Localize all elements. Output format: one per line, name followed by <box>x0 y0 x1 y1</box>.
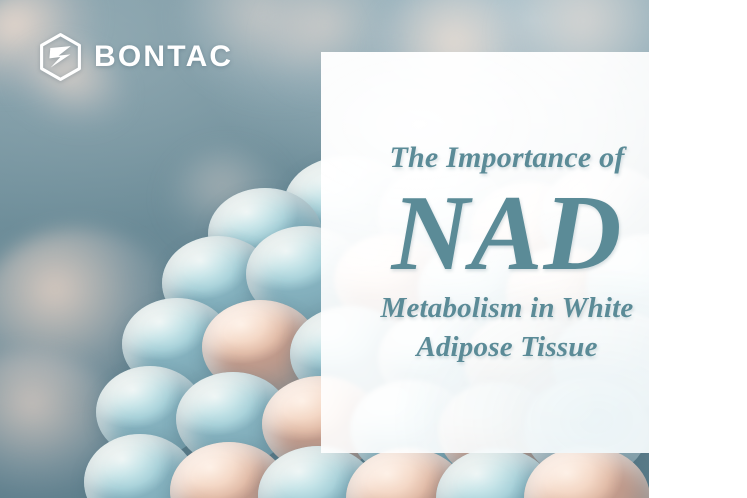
article-title: The Importance of NAD Metabolism in Whit… <box>321 52 693 453</box>
bontac-hexagon-mark <box>38 33 83 81</box>
title-keyword-nad: NAD <box>391 181 622 287</box>
bontac-wordmark: BONTAC <box>94 42 233 72</box>
title-line-1: The Importance of <box>389 143 624 173</box>
bontac-article-banner: The Importance of NAD Metabolism in Whit… <box>0 0 747 498</box>
title-line-4: Adipose Tissue <box>416 333 597 362</box>
bontac-logo[interactable]: BONTAC <box>38 33 233 81</box>
title-line-3: Metabolism in White <box>380 294 633 323</box>
